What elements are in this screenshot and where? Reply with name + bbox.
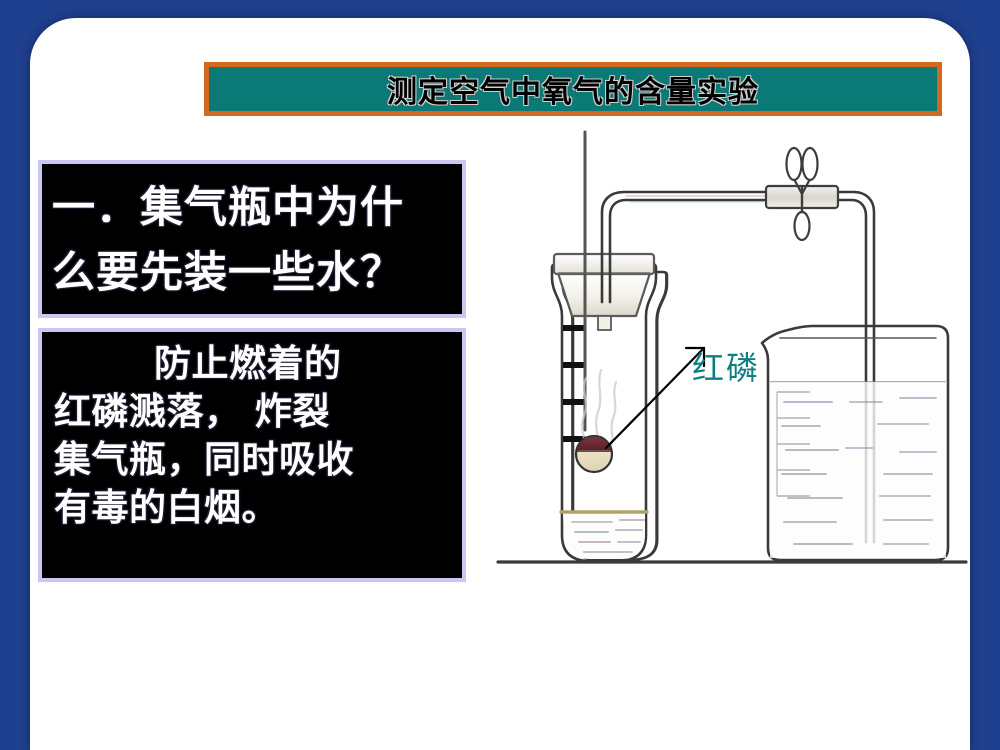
rubber-stopper [554, 254, 654, 330]
question-line-2: 么要先装一些水？ [52, 241, 452, 306]
answer-line-1: 防止燃着的 [54, 340, 452, 388]
answer-line-3: 集气瓶，同时吸收 [54, 436, 452, 484]
page-title: 测定空气中氧气的含量实验 [387, 67, 759, 111]
answer-line-2: 红磷溅落， 炸裂 [54, 388, 452, 436]
red-phosphorus-label: 红磷 [692, 343, 760, 389]
title-banner: 测定空气中氧气的含量实验 [204, 62, 942, 116]
question-textbox: 一．集气瓶中为什 么要先装一些水？ [38, 160, 466, 318]
red-phosphorus-arrow [606, 348, 704, 448]
smoke-wisps [582, 370, 616, 446]
question-line-1: 一．集气瓶中为什 [52, 176, 452, 241]
combustion-spoon [576, 436, 612, 472]
pinch-clamp [766, 148, 838, 240]
slide-canvas: 测定空气中氧气的含量实验 一．集气瓶中为什 么要先装一些水？ 防止燃着的 红磷溅… [0, 0, 1000, 750]
answer-textbox: 防止燃着的 红磷溅落， 炸裂 集气瓶，同时吸收 有毒的白烟。 [38, 328, 466, 582]
bottle-water [561, 512, 647, 559]
answer-line-4: 有毒的白烟。 [54, 484, 452, 532]
beaker [762, 326, 948, 560]
